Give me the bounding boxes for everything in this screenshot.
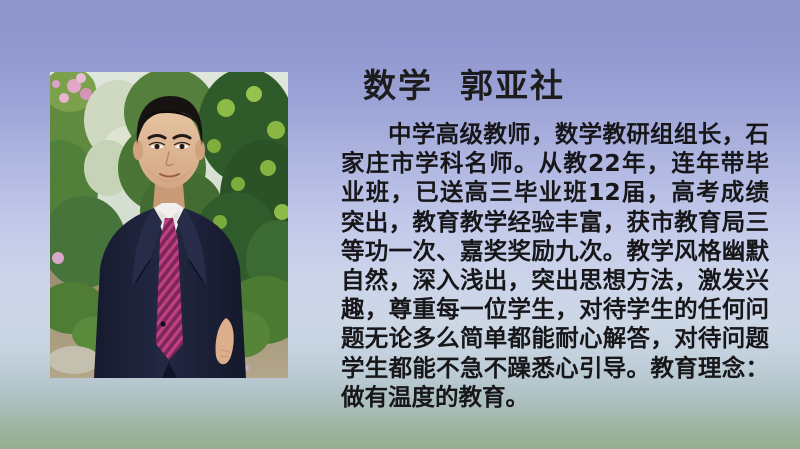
teacher-bio-paragraph: 中学高级教师，数学教研组组长，石家庄市学科名师。从教22年，连年带毕业班，已送高… xyxy=(341,120,769,412)
slide-title: 数学 郭亚社 xyxy=(341,66,769,106)
teacher-portrait-photo xyxy=(50,72,288,378)
slide-text-column: 数学 郭亚社 中学高级教师，数学教研组组长，石家庄市学科名师。从教22年，连年带… xyxy=(341,66,769,412)
portrait-image xyxy=(50,72,288,378)
presentation-slide: 数学 郭亚社 中学高级教师，数学教研组组长，石家庄市学科名师。从教22年，连年带… xyxy=(0,0,800,449)
